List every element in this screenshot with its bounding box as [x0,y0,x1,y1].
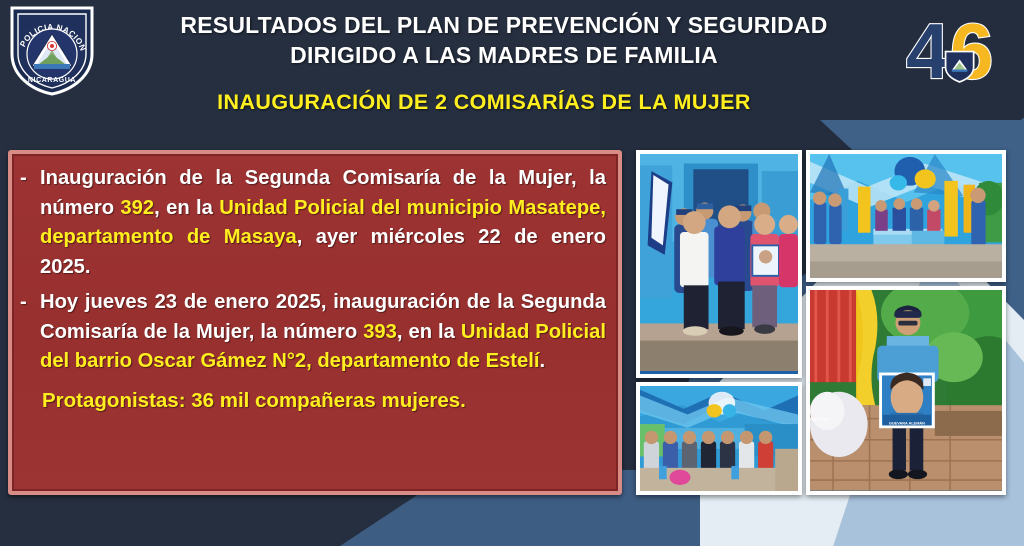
content-panel: - Inauguración de la Segunda Comisaría d… [8,150,622,495]
bullet-item-2: - Hoy jueves 23 de enero 2025, inaugurac… [20,288,606,377]
portrait-caption-line1: CRA. MATILDE RAYOS [810,418,829,422]
photo-seated-audience [636,382,802,495]
policia-nacional-shield-icon: POLICIA NACIONAL NICARAGUA [6,2,98,98]
bullet1-number: 392 [120,197,154,219]
photo-collage: CRA. MATILDE RAYOS GUEVARA ALEMÁN [636,150,1008,495]
svg-text:NICARAGUA: NICARAGUA [28,77,76,84]
bullet-text-1: Inauguración de la Segunda Comisaría de … [40,164,606,282]
protagonistas-line: Protagonistas: 36 mil compañeras mujeres… [20,389,606,413]
slide-root: POLICIA NACIONAL NICARAGUA RESULTADOS DE… [0,0,1024,546]
bullet-item-1: - Inauguración de la Segunda Comisaría d… [20,164,606,282]
bullet-marker-2: - [20,288,40,318]
header-title-line1: RESULTADOS DEL PLAN DE PREVENCIÓN Y SEGU… [104,10,904,40]
anniversary-46-logo: 4 6 [904,6,1014,94]
header: POLICIA NACIONAL NICARAGUA RESULTADOS DE… [0,0,1024,140]
photo-officer-portrait: CRA. MATILDE RAYOS GUEVARA ALEMÁN [806,286,1006,495]
photo-ceremony-tent [806,150,1006,282]
bullet-marker-1: - [20,164,40,194]
bullet-text-2: Hoy jueves 23 de enero 2025, inauguració… [40,288,606,377]
bullet2-seg3: , en la [397,321,461,343]
header-subtitle: INAUGURACIÓN DE 2 COMISARÍAS DE LA MUJER [104,90,864,115]
bullet2-number: 393 [363,321,397,343]
header-title-line2: DIRIGIDO A LAS MADRES DE FAMILIA [104,40,904,70]
portrait-caption-line2: GUEVARA ALEMÁN [889,420,925,425]
header-title: RESULTADOS DEL PLAN DE PREVENCIÓN Y SEGU… [104,10,904,70]
bullet1-seg3: , en la [154,197,219,219]
bullet2-seg5: . [539,350,545,372]
svg-text:4: 4 [906,7,949,94]
photo-group-building [636,150,802,378]
